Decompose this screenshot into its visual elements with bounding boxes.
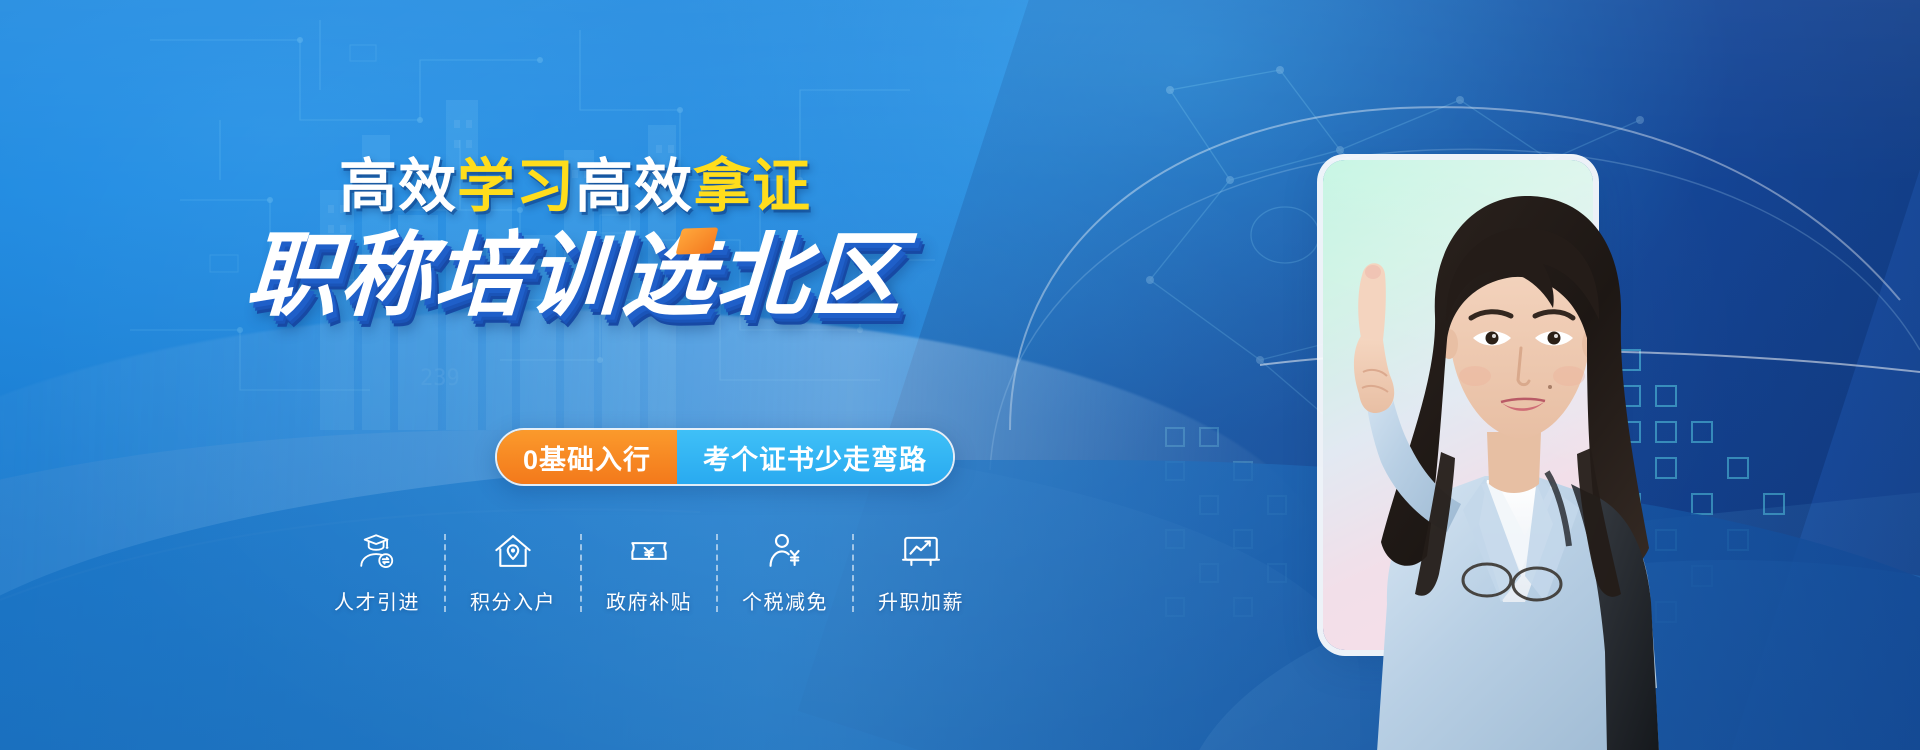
orange-accent-stroke	[676, 227, 719, 254]
feature-label: 政府补贴	[606, 586, 692, 615]
ticket-yuan-icon	[628, 530, 670, 572]
graduate-person-icon	[356, 530, 398, 572]
feature-item-tax-reduction[interactable]: 个税减免	[718, 530, 852, 615]
model-photo	[1255, 150, 1755, 750]
subtitle-badge: 0基础入行 考个证书少走弯路	[495, 428, 955, 486]
feature-label: 个税减免	[742, 586, 828, 615]
chart-easel-icon	[900, 530, 942, 572]
feature-item-points-residency[interactable]: 积分入户	[446, 530, 580, 615]
headline-top-part-4: 拿证	[693, 154, 811, 219]
house-pin-icon	[492, 530, 534, 572]
feature-item-government-subsidy[interactable]: 政府补贴	[582, 530, 716, 615]
headline-top-part-1: 高效	[339, 154, 457, 219]
person-yuan-icon	[764, 530, 806, 572]
headline-main-text: 职称培训选北区	[243, 228, 906, 325]
headline-top: 高效学习高效拿证	[0, 158, 1150, 216]
feature-label: 人才引进	[334, 586, 420, 615]
headline-top-part-2: 学习	[457, 154, 575, 219]
headline-main: 职称培训选北区	[0, 228, 1150, 325]
banner-content: 高效学习高效拿证 职称培训选北区 0基础入行 考个证书少走弯路	[0, 0, 1200, 750]
woman-figure-illustration	[1235, 132, 1755, 750]
feature-list: 人才引进 积分入户	[310, 530, 988, 615]
promo-banner: 239	[0, 0, 1920, 750]
feature-item-promotion-raise[interactable]: 升职加薪	[854, 530, 988, 615]
feature-label: 积分入户	[470, 586, 556, 615]
feature-label: 升职加薪	[878, 586, 964, 615]
badge-left-label: 0基础入行	[497, 430, 677, 484]
feature-item-talent-introduction[interactable]: 人才引进	[310, 530, 444, 615]
headline-top-part-3: 高效	[575, 154, 693, 219]
badge-right-label: 考个证书少走弯路	[677, 430, 953, 484]
